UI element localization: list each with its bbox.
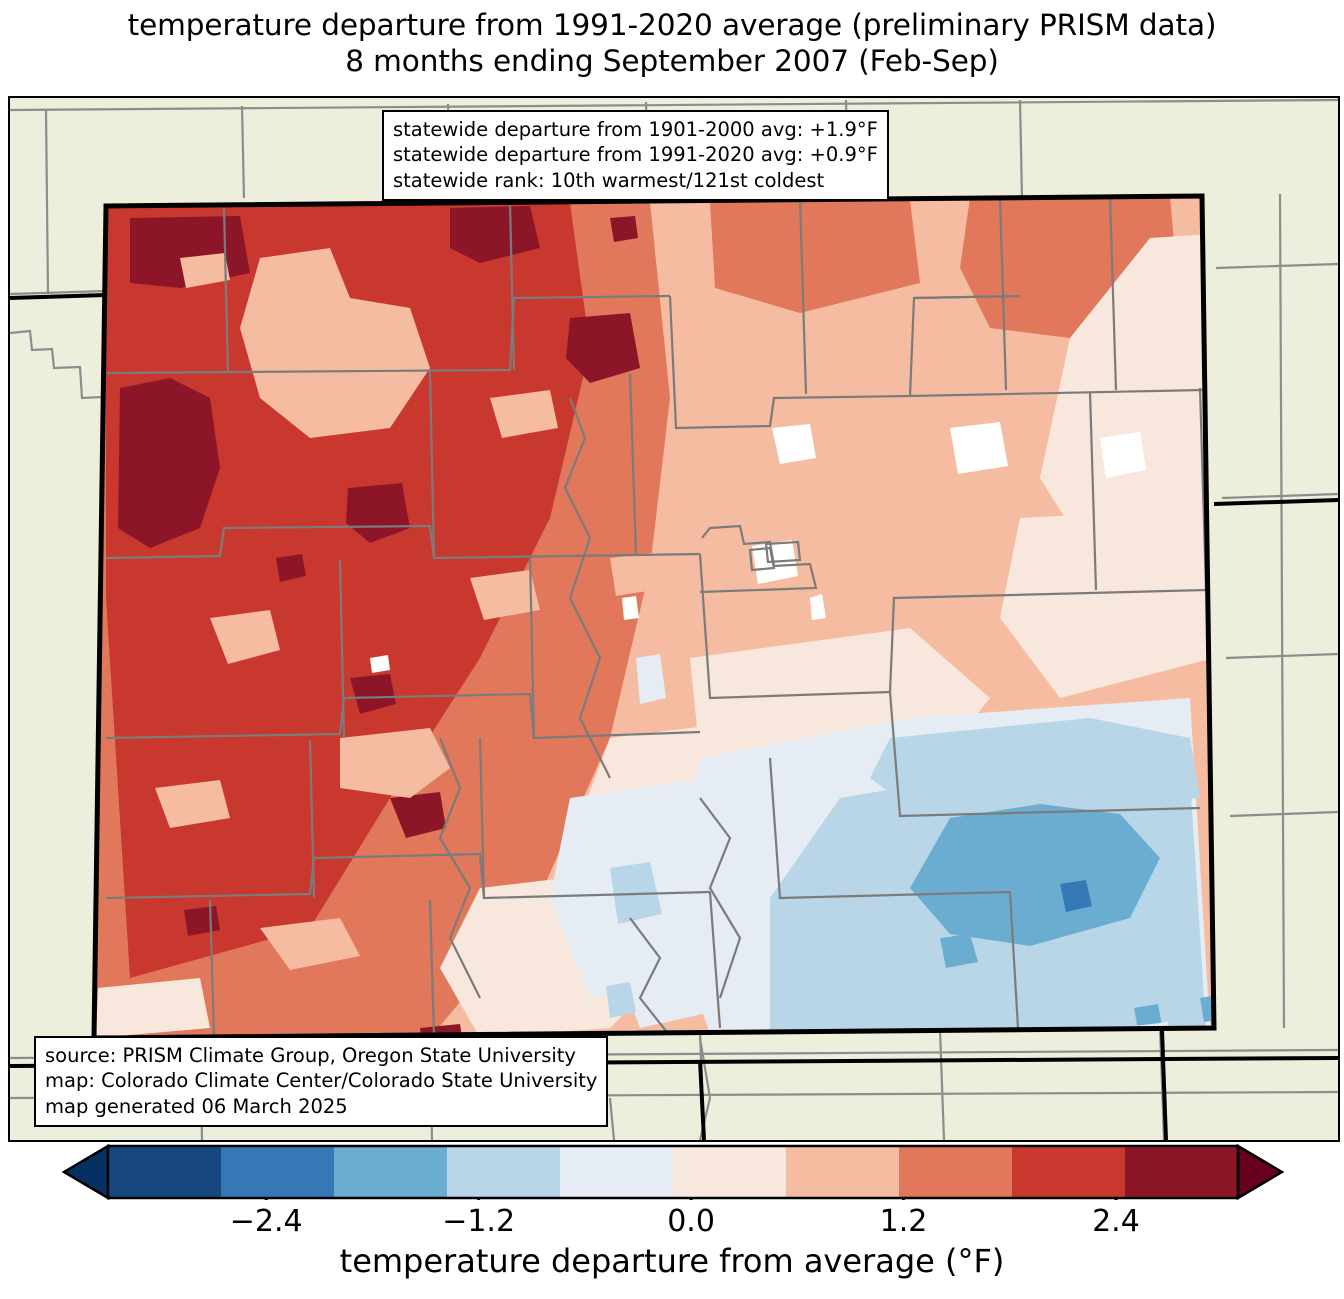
title-line-1: temperature departure from 1991-2020 ave… [0, 8, 1344, 44]
colorbar-tick-label: 1.2 [880, 1204, 928, 1239]
source-line-2: map: Colorado Climate Center/Colorado St… [45, 1068, 597, 1093]
colorbar-bin-8 [1012, 1146, 1126, 1198]
colorbar-bin-6 [786, 1146, 900, 1198]
stats-line-3: statewide rank: 10th warmest/121st colde… [393, 168, 878, 193]
anomaly-raster [90, 188, 1230, 1066]
source-line-3: map generated 06 March 2025 [45, 1094, 597, 1119]
colorbar-bin-7 [899, 1146, 1013, 1198]
colorbar [62, 1144, 1284, 1200]
colorbar-area: −2.4−1.20.01.22.4 temperature departure … [0, 1142, 1344, 1299]
colorbar-tick-label: −1.2 [442, 1204, 515, 1239]
colorbar-bin-0 [108, 1146, 222, 1198]
map-panel: statewide departure from 1901-2000 avg: … [8, 96, 1340, 1142]
title-line-2: 8 months ending September 2007 (Feb-Sep) [0, 44, 1344, 80]
source-line-1: source: PRISM Climate Group, Oregon Stat… [45, 1043, 597, 1068]
colorbar-swatches [62, 1144, 1284, 1200]
colorbar-bin-4 [560, 1146, 674, 1198]
colorbar-axis-label: temperature departure from average (°F) [0, 1242, 1344, 1280]
colorbar-bin-9 [1125, 1146, 1239, 1198]
colorbar-bin-5 [673, 1146, 787, 1198]
source-credits-box: source: PRISM Climate Group, Oregon Stat… [34, 1036, 608, 1127]
colorbar-over-arrow [1238, 1146, 1282, 1198]
colorbar-tick-labels: −2.4−1.20.01.22.4 [0, 1204, 1344, 1244]
climate-map-figure: temperature departure from 1991-2020 ave… [0, 0, 1344, 1299]
colorbar-tick-label: −2.4 [230, 1204, 303, 1239]
colorbar-bin-1 [221, 1146, 335, 1198]
stats-line-1: statewide departure from 1901-2000 avg: … [393, 117, 878, 142]
colorbar-bin-2 [334, 1146, 448, 1198]
statewide-stats-box: statewide departure from 1901-2000 avg: … [382, 110, 889, 201]
colorbar-bin-3 [447, 1146, 561, 1198]
colorbar-tick-label: 2.4 [1092, 1204, 1140, 1239]
colorbar-under-arrow [64, 1146, 108, 1198]
figure-title: temperature departure from 1991-2020 ave… [0, 8, 1344, 80]
stats-line-2: statewide departure from 1991-2020 avg: … [393, 142, 878, 167]
colorado-anomaly-map [10, 98, 1338, 1140]
colorbar-tick-label: 0.0 [667, 1204, 715, 1239]
